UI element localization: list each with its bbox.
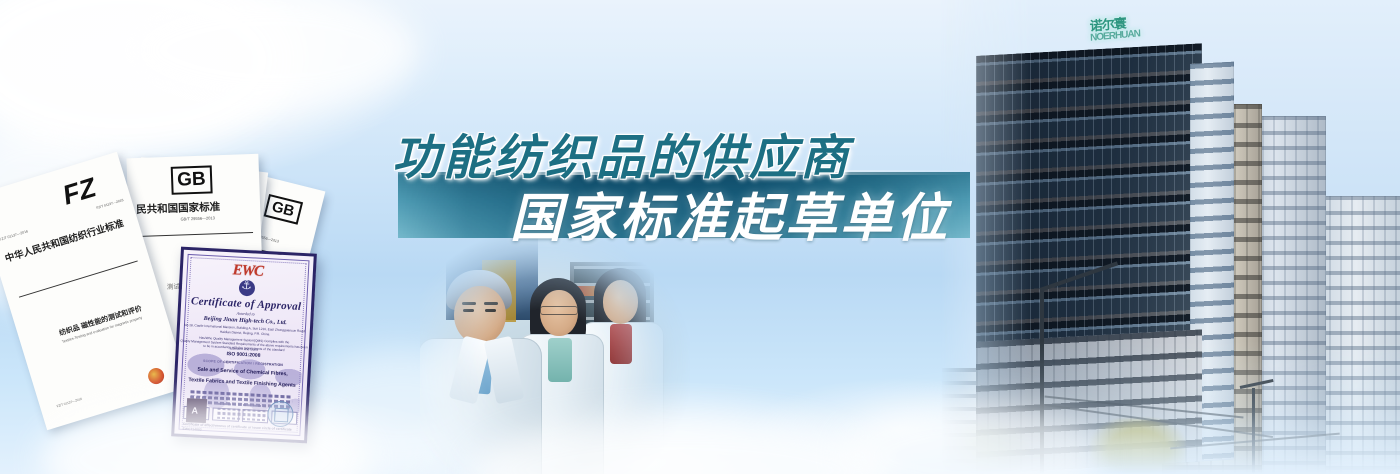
face bbox=[603, 280, 638, 324]
eyebrow bbox=[462, 302, 476, 305]
certificate-number: EWC714002 bbox=[182, 427, 201, 432]
face bbox=[454, 286, 506, 344]
rooftop-sign: 诺尔寰 NOERHUAN bbox=[1089, 15, 1152, 50]
eyeglasses bbox=[540, 306, 578, 315]
standard-heading: 中华人民共和国纺织行业标准 bbox=[3, 215, 125, 265]
office-tower-photo: 诺尔寰 NOERHUAN bbox=[940, 0, 1400, 474]
standard-heading: 民共和国国家标准 bbox=[136, 199, 220, 217]
standard-code-gb: GB bbox=[264, 194, 303, 225]
cloud-decoration bbox=[120, 0, 420, 110]
standard-number: GB/T 29556—2013 bbox=[180, 215, 215, 221]
standard-number: FZ/T 01137—2016 bbox=[96, 198, 124, 210]
street-tree bbox=[1090, 418, 1186, 474]
standards-and-certificates-stack: GB 国国家标准 GB/T 29556—2013 GB 国国家标准 GB/T 2… bbox=[0, 150, 350, 450]
certificate-signature-block bbox=[217, 403, 268, 425]
divider bbox=[137, 232, 253, 237]
background-tower bbox=[1318, 196, 1400, 474]
inner-garment bbox=[548, 338, 572, 382]
publisher-text: FZ/T 01137—2016 bbox=[56, 397, 82, 409]
ukas-accreditation-mark bbox=[186, 398, 207, 423]
standard-org: FZ/T 01137—2016 bbox=[0, 229, 29, 242]
research-team-photo bbox=[420, 232, 690, 474]
eye bbox=[485, 309, 496, 312]
divider bbox=[19, 260, 138, 297]
street-tree bbox=[940, 420, 1030, 474]
headline-gradient-band bbox=[398, 172, 970, 238]
headline-line-1: 功能纺织品的供应商 bbox=[392, 118, 972, 188]
headline-band-highlight bbox=[398, 170, 970, 175]
standard-code-gb: GB bbox=[171, 165, 212, 194]
street-lamp bbox=[1040, 290, 1044, 474]
standard-code-fz: FZ bbox=[59, 172, 100, 211]
iso-certificate-of-approval: EWC Certificate of Approval Awarded to B… bbox=[171, 247, 317, 444]
inner-garment bbox=[610, 324, 632, 364]
eye bbox=[463, 309, 474, 312]
eyebrow bbox=[484, 302, 498, 305]
street-lamp bbox=[1252, 388, 1255, 474]
company-hero-banner: 诺尔寰 NOERHUAN bbox=[0, 0, 1400, 474]
cloud-decoration bbox=[0, 0, 290, 150]
document-seal bbox=[146, 366, 166, 386]
